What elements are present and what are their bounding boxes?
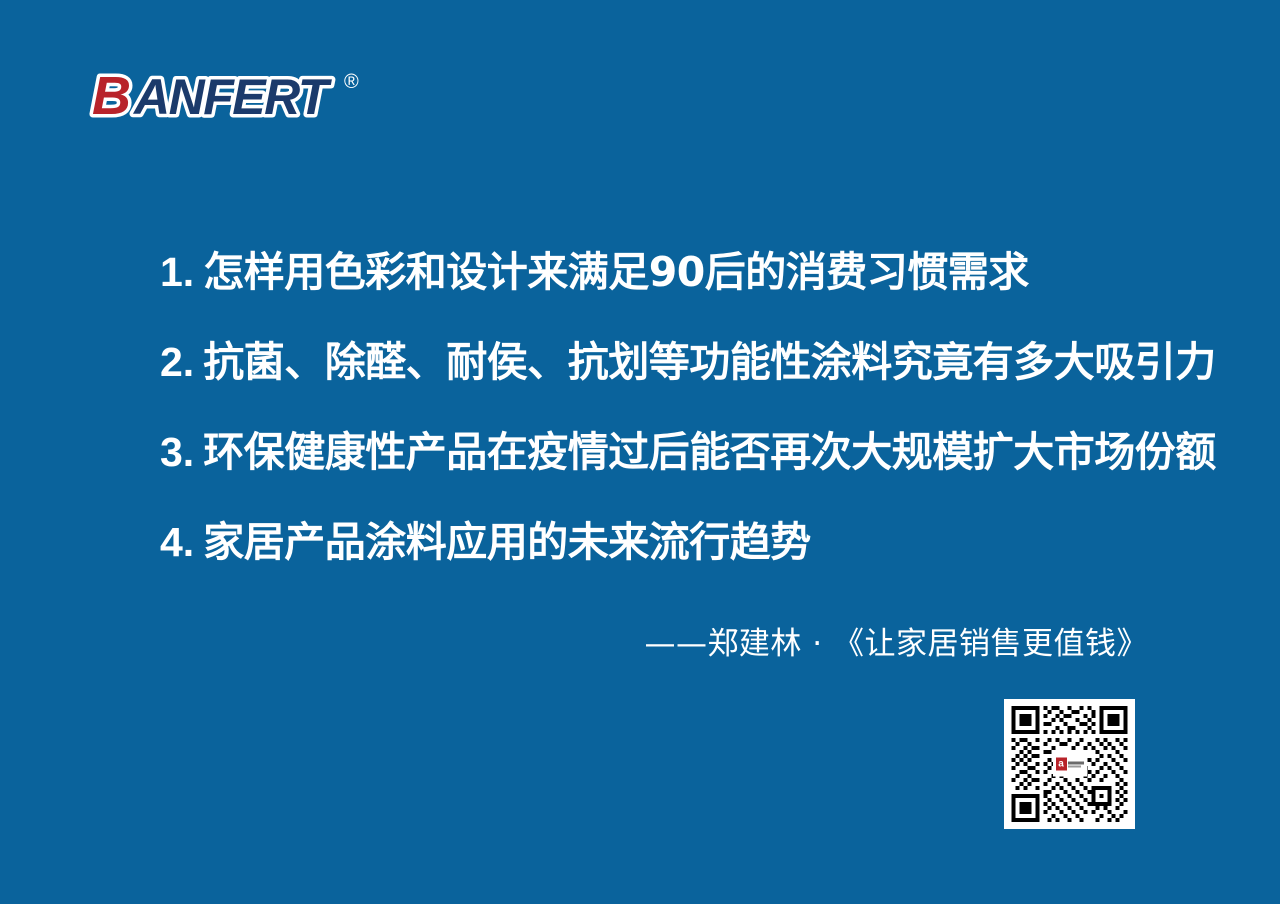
logo-wordmark: ANFERT [132, 69, 333, 125]
list-item: 3. 环保健康性产品在疫情过后能否再次大规模扩大市场份额 [160, 418, 1200, 508]
agenda-item-number: 3. [160, 429, 203, 476]
wordmark-line [1068, 765, 1081, 767]
logo-letter-b: B [92, 66, 130, 126]
list-item: 1. 怎样用色彩和设计来满足90后的消费习惯需求 [160, 238, 1200, 328]
qr-center-logo-wordmark [1068, 761, 1084, 767]
wordmark-line [1068, 761, 1084, 764]
slide-canvas: B ANFERT B ANFERT ® 1. 怎样用色彩和设计来满足90后的消费… [0, 0, 1280, 904]
list-item: 2. 抗菌、除醛、耐侯、抗划等功能性涂料究竟有多大吸引力 [160, 328, 1200, 418]
agenda-item-number: 2. [160, 339, 203, 386]
registered-trademark-icon: ® [344, 71, 359, 93]
banfert-logo: B ANFERT B ANFERT ® [88, 66, 388, 128]
qr-center-logo: a [1053, 752, 1087, 777]
agenda-item-text: 环保健康性产品在疫情过后能否再次大规模扩大市场份额 [203, 418, 1216, 478]
agenda-item-number: 4. [160, 519, 203, 566]
list-item: 4. 家居产品涂料应用的未来流行趋势 [160, 508, 1200, 598]
qr-code[interactable]: a [1004, 699, 1135, 829]
agenda-item-text: 怎样用色彩和设计来满足90后的消费习惯需求 [203, 238, 1029, 298]
agenda-item-text: 抗菌、除醛、耐侯、抗划等功能性涂料究竟有多大吸引力 [203, 328, 1216, 388]
agenda-list: 1. 怎样用色彩和设计来满足90后的消费习惯需求 2. 抗菌、除醛、耐侯、抗划等… [160, 238, 1200, 598]
agenda-item-number: 1. [160, 249, 203, 296]
attribution-line: ——郑建林 · 《让家居销售更值钱》 [644, 618, 1148, 663]
qr-code-modules: a [1011, 706, 1128, 822]
agenda-item-text: 家居产品涂料应用的未来流行趋势 [203, 508, 811, 568]
qr-center-logo-mark: a [1056, 758, 1067, 771]
